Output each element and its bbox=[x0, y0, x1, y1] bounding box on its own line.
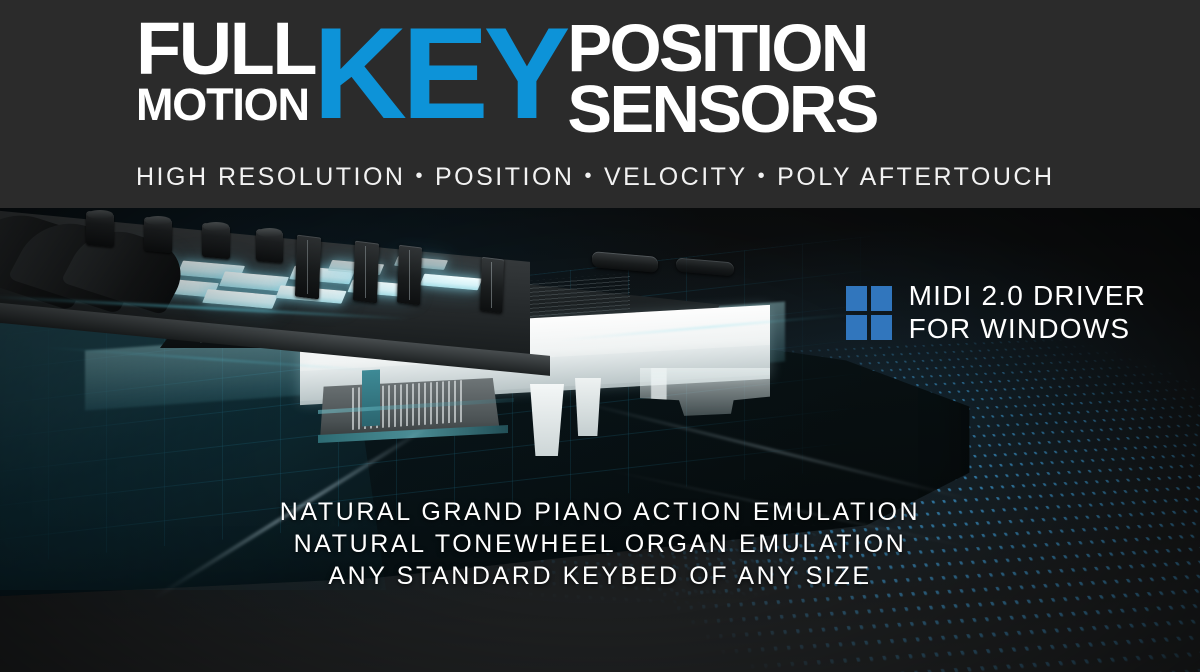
headline-word-motion: MOTION bbox=[136, 84, 309, 125]
fader-cap-line bbox=[365, 246, 366, 298]
fader-cap-line bbox=[307, 240, 308, 294]
subtitle-item-3: POLY AFTERTOUCH bbox=[777, 163, 1054, 192]
header-band: FULL MOTION KEY POSITION SENSORS HIGH RE… bbox=[0, 0, 1200, 208]
subtitle-item-1: POSITION bbox=[435, 163, 574, 192]
rotary-knob-cap bbox=[203, 222, 229, 231]
headline-left-stack: FULL MOTION bbox=[136, 18, 315, 125]
subtitle-separator: • bbox=[758, 166, 768, 186]
mechanism-post bbox=[362, 370, 380, 427]
subtitle-separator: • bbox=[415, 166, 425, 186]
headline-word-position: POSITION bbox=[567, 20, 866, 78]
headline: FULL MOTION KEY POSITION SENSORS bbox=[136, 18, 877, 150]
subtitle-feature-list: HIGH RESOLUTION • POSITION • VELOCITY • … bbox=[136, 163, 1072, 192]
fader-cap-line bbox=[409, 250, 410, 300]
midi-driver-text: MIDI 2.0 DRIVER FOR WINDOWS bbox=[909, 282, 1146, 343]
feature-caption: NATURAL GRAND PIANO ACTION EMULATION NAT… bbox=[0, 496, 1200, 592]
headline-word-key: KEY bbox=[313, 18, 565, 130]
rotary-knob-cap bbox=[145, 216, 171, 225]
subtitle-item-0: HIGH RESOLUTION bbox=[136, 163, 405, 192]
headline-right-stack: POSITION SENSORS bbox=[567, 18, 876, 138]
subtitle-item-2: VELOCITY bbox=[604, 163, 748, 192]
windows-logo-square-tr bbox=[871, 286, 892, 311]
windows-logo-square-tl bbox=[846, 286, 867, 311]
caption-line-2: NATURAL TONEWHEEL ORGAN EMULATION bbox=[0, 528, 1200, 560]
fader-cap[interactable] bbox=[295, 235, 321, 300]
subtitle-separator: • bbox=[584, 166, 594, 186]
keyboard-render-artwork: MIDI 2.0 DRIVER FOR WINDOWS NATURAL GRAN… bbox=[0, 208, 1200, 672]
rotary-knob-cap bbox=[87, 210, 113, 219]
headline-word-full: FULL bbox=[136, 20, 315, 78]
midi-driver-badge: MIDI 2.0 DRIVER FOR WINDOWS bbox=[846, 282, 1146, 343]
fader-cap[interactable] bbox=[353, 241, 379, 304]
midi-driver-line-1: MIDI 2.0 DRIVER bbox=[909, 282, 1146, 310]
caption-line-3: ANY STANDARD KEYBED OF ANY SIZE bbox=[0, 560, 1200, 592]
rotary-knob-cap bbox=[257, 228, 282, 237]
windows-logo-icon bbox=[846, 286, 892, 340]
caption-line-1: NATURAL GRAND PIANO ACTION EMULATION bbox=[0, 496, 1200, 528]
fader-cap[interactable] bbox=[480, 257, 504, 313]
fader-cap-line bbox=[491, 262, 492, 308]
windows-logo-square-br bbox=[871, 315, 892, 340]
windows-logo-square-bl bbox=[846, 315, 867, 340]
midi-driver-line-2: FOR WINDOWS bbox=[909, 315, 1146, 343]
product-banner: MIDI 2.0 DRIVER FOR WINDOWS NATURAL GRAN… bbox=[0, 0, 1200, 672]
headline-word-sensors: SENSORS bbox=[567, 81, 876, 139]
